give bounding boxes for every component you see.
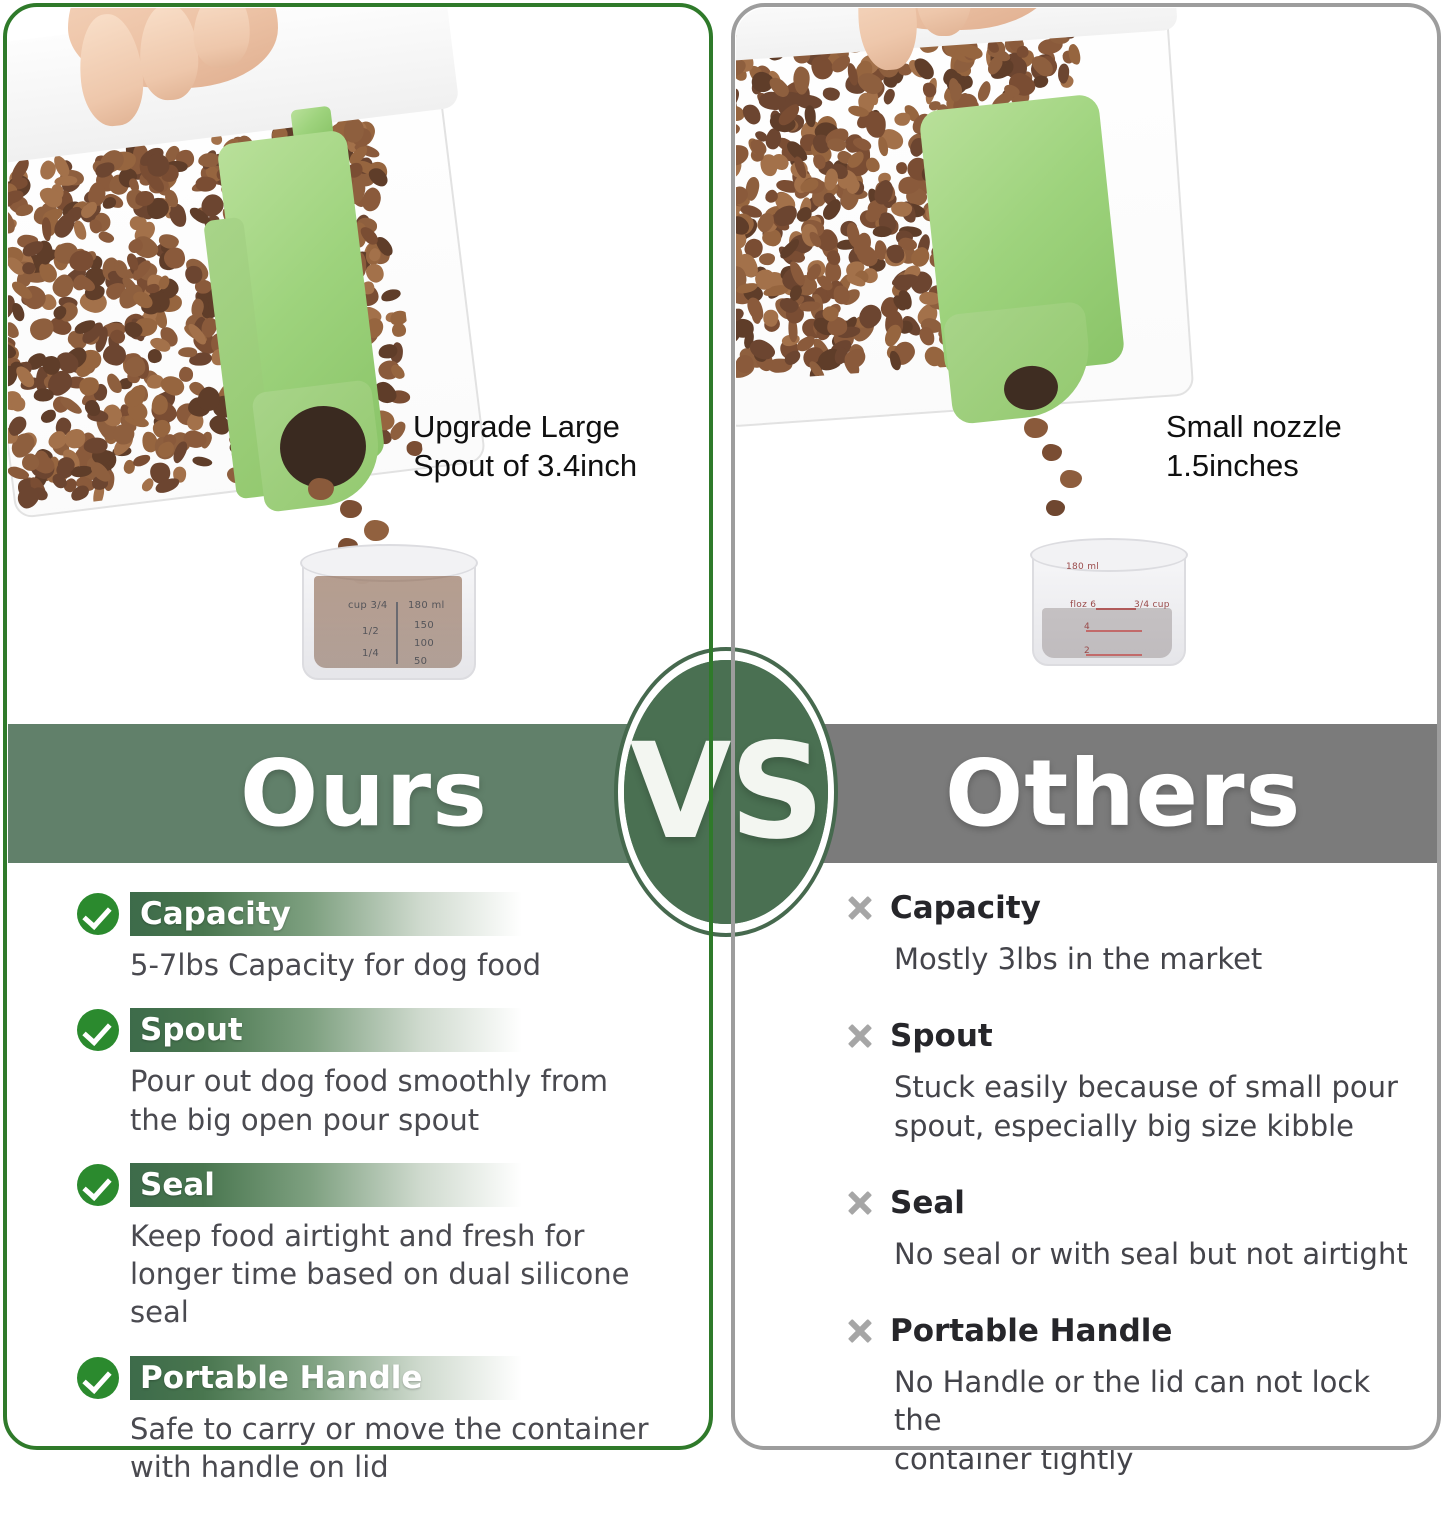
others-panel-border xyxy=(731,3,1441,1450)
comparison-infographic: cup 3/4 1/2 1/4 180 ml 150 100 50 Upgrad… xyxy=(0,0,1445,1453)
ours-panel-border xyxy=(3,3,713,1450)
